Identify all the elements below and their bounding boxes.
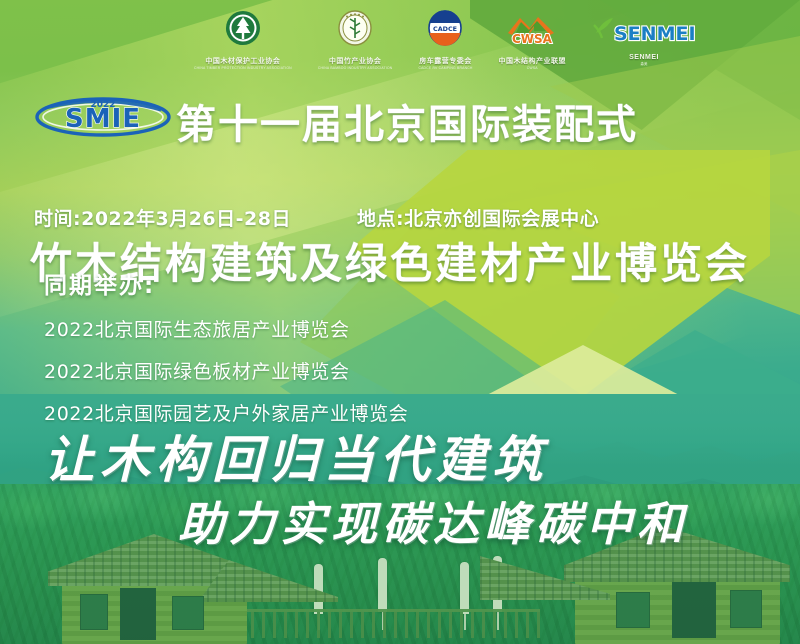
headline-line-1: 第十一届北京国际装配式 (176, 92, 638, 150)
logo-china-bamboo-industry[interactable]: 中国竹产业协会 CHINA BAMBOO INDUSTRY ASSOCIATIO… (318, 9, 393, 70)
logo-subcaption: CHINA BAMBOO INDUSTRY ASSOCIATION (318, 66, 393, 70)
event-venue: 地点:北京亦创国际会展中心 (357, 204, 599, 231)
logo-cwsa-wood-structure[interactable]: CWSA 中国木结构产业联盟 CWSA (499, 9, 567, 70)
logo-caption: 中国木材保护工业协会 (205, 56, 280, 66)
logo-caption: 中国竹产业协会 (329, 56, 382, 66)
logo-subcaption: CWSA (527, 66, 538, 70)
slogan-line-2: 助力实现碳达峰碳中和 (178, 488, 688, 554)
svg-text:CWSA: CWSA (512, 32, 553, 46)
senmei-leaf-wordmark-icon: SENMEI (592, 13, 696, 52)
slogan-line-1: 让木构回归当代建筑 (44, 420, 548, 492)
smie-wordmark: SMIE (65, 104, 141, 134)
svg-text:CADCE: CADCE (433, 25, 457, 33)
event-meta: 时间:2022年3月26日-28日 地点:北京亦创国际会展中心 (34, 204, 599, 231)
logo-caption: SENMEI (629, 54, 659, 61)
smie-logo[interactable]: 2022 SMIE (33, 94, 173, 138)
logo-senmei[interactable]: SENMEI SENMEI 森美 (592, 13, 696, 66)
exhibition-poster: 中国木材保护工业协会 CHINA TIMBER PROTECTION INDUS… (0, 0, 800, 644)
bamboo-oval-emblem-icon (333, 9, 377, 54)
logo-subcaption: CADCE RV CAMPING BRANCH (418, 66, 472, 70)
logo-caption: 中国木结构产业联盟 (499, 56, 567, 66)
house-roof-cwsa-icon: CWSA (504, 9, 560, 54)
logo-china-timber-protection[interactable]: 中国木材保护工业协会 CHINA TIMBER PROTECTION INDUS… (194, 9, 292, 70)
organizer-logo-strip: 中国木材保护工业协会 CHINA TIMBER PROTECTION INDUS… (0, 8, 800, 70)
svg-text:SENMEI: SENMEI (614, 23, 696, 45)
logo-subcaption: CHINA TIMBER PROTECTION INDUSTRY ASSOCIA… (194, 66, 292, 70)
logo-subcaption: 森美 (640, 61, 647, 66)
logo-caption: 房车露营专委会 (419, 56, 472, 66)
concurrent-event-item: 2022北京国际绿色板材产业博览会 (44, 357, 408, 384)
event-date: 时间:2022年3月26日-28日 (34, 204, 291, 231)
concurrent-heading: 同期举办: (44, 266, 408, 300)
logo-cadce-rv-camping[interactable]: CADCE 房车露营专委会 CADCE RV CAMPING BRANCH (418, 9, 472, 70)
concurrent-event-item: 2022北京国际生态旅居产业博览会 (44, 315, 408, 342)
concurrent-events-block: 同期举办: 2022北京国际生态旅居产业博览会 2022北京国际绿色板材产业博览… (44, 266, 408, 441)
cadce-shield-icon: CADCE (423, 9, 467, 54)
pine-tree-emblem-icon (221, 9, 265, 54)
